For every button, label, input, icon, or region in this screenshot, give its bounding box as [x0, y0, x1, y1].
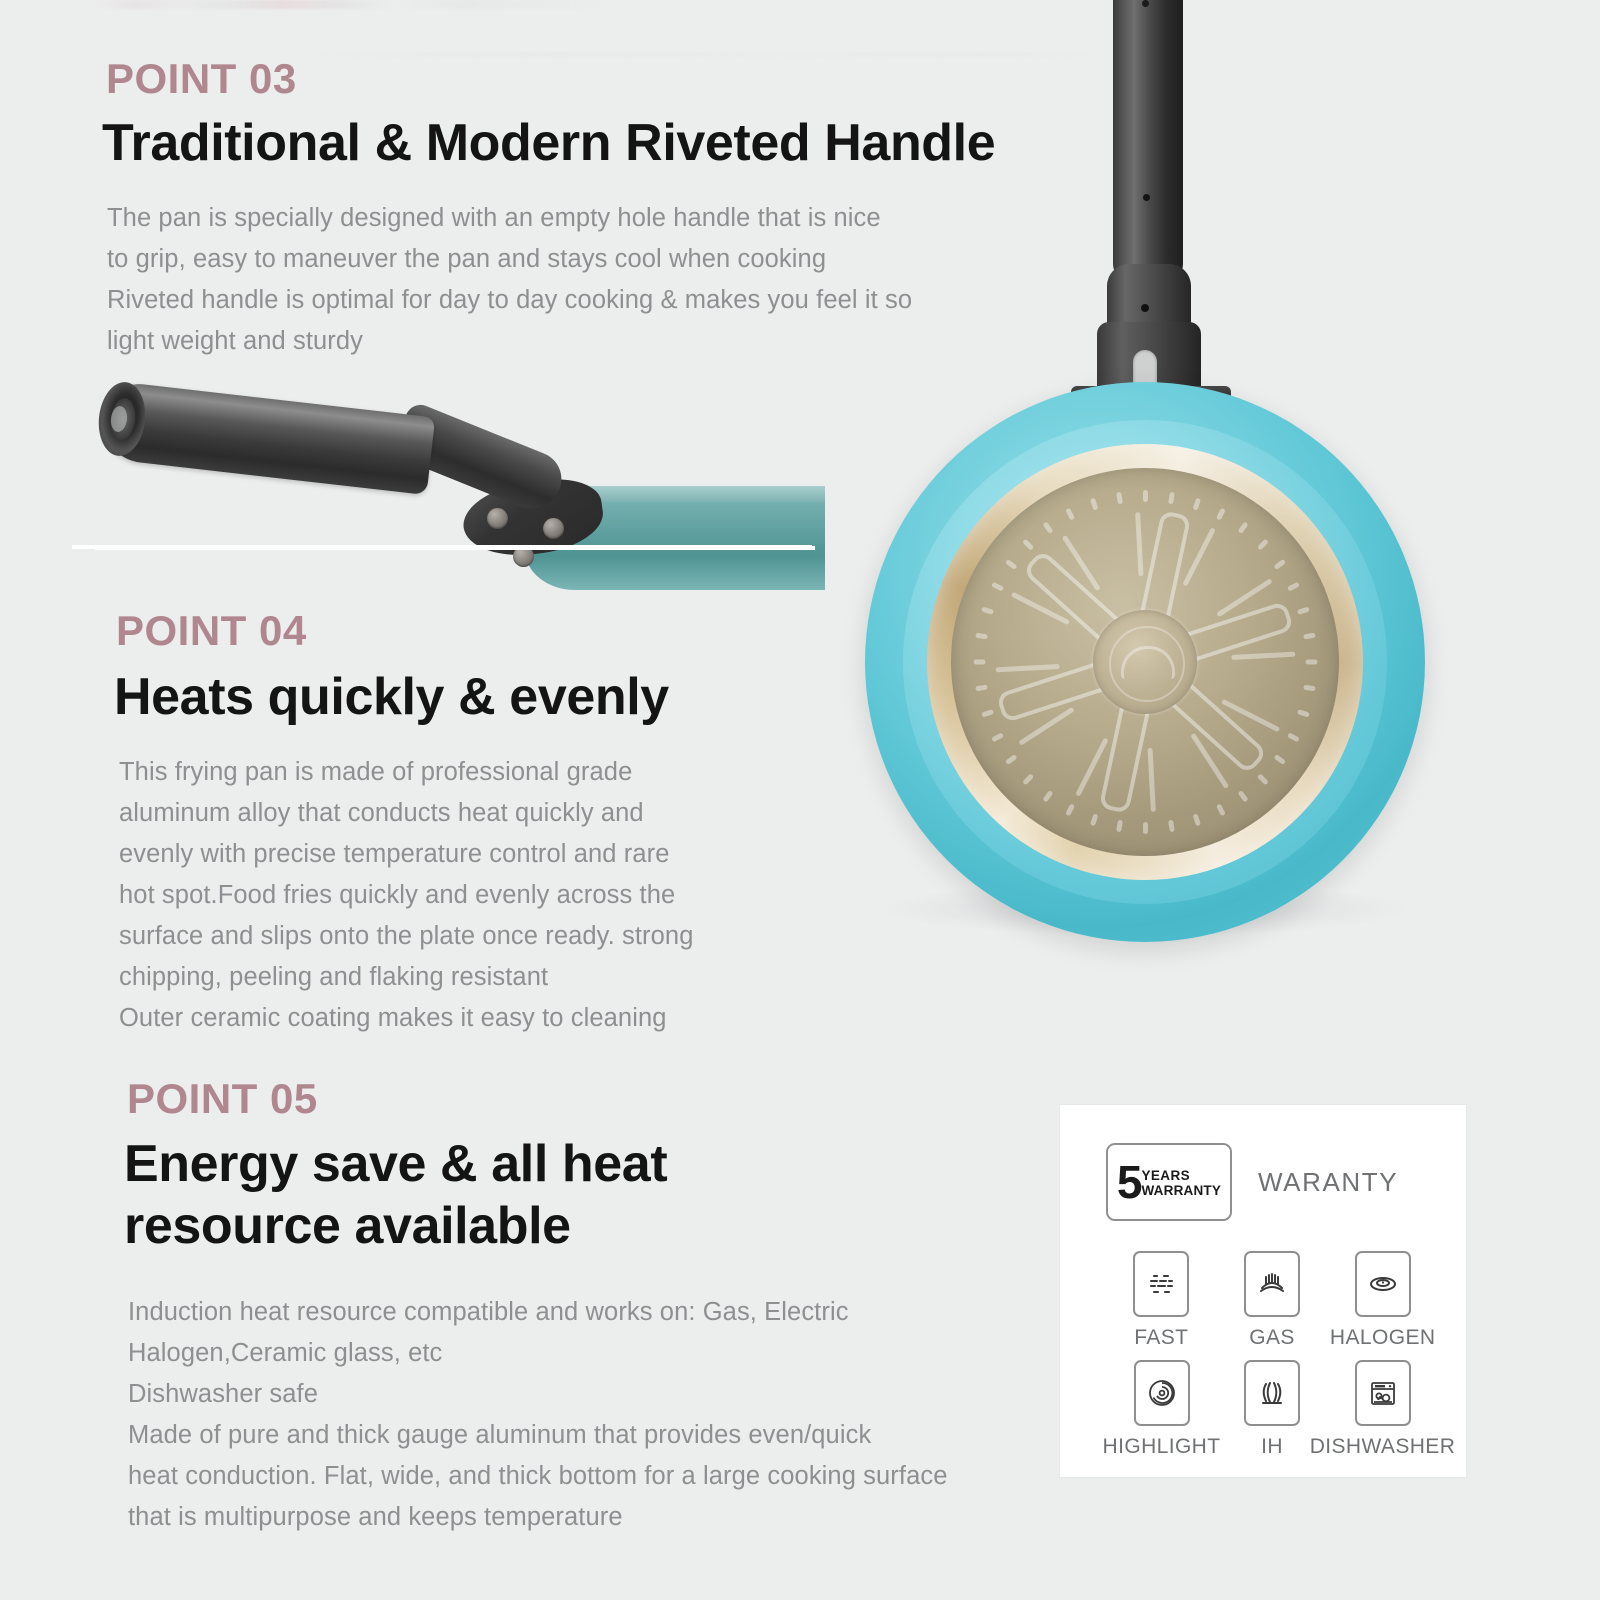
base-tick: [1303, 685, 1316, 692]
brand-medallion: [1093, 610, 1197, 714]
base-tick: [1273, 559, 1286, 570]
spec-icon-panel: 5 YEARS WARRANTY WARANTY: [1060, 1105, 1466, 1477]
base-tick: [1004, 559, 1017, 570]
base-tick: [1022, 773, 1034, 785]
ih-caption: IH: [1261, 1435, 1283, 1459]
warranty-row: 5 YEARS WARRANTY WARANTY: [1106, 1143, 1398, 1221]
highlight-icon: [1134, 1360, 1190, 1426]
point-05-body: Induction heat resource compatible and w…: [128, 1292, 1118, 1538]
base-tick: [1215, 803, 1225, 816]
dishwasher-icon: [1355, 1360, 1411, 1426]
base-tick: [1296, 606, 1309, 614]
base-tick: [1286, 582, 1299, 592]
point-04-title: Heats quickly & evenly: [114, 666, 669, 728]
base-tick: [1089, 813, 1097, 826]
warranty-badge: 5 YEARS WARRANTY: [1106, 1143, 1232, 1221]
base-tick: [1116, 492, 1123, 505]
point-05-title: Energy save & all heat resource availabl…: [124, 1133, 667, 1257]
base-tick: [1273, 754, 1286, 765]
base-tick: [1256, 773, 1268, 785]
handle-grip: [99, 380, 436, 495]
base-tick: [981, 709, 994, 717]
warranty-label: WARANTY: [1258, 1167, 1398, 1198]
point-04-body: This frying pan is made of professional …: [119, 752, 819, 1039]
icon-row-top: FAST: [1106, 1251, 1438, 1350]
dishwasher-caption: DISHWASHER: [1310, 1435, 1456, 1459]
base-tick: [1042, 521, 1053, 534]
warranty-years-number: 5: [1117, 1163, 1141, 1201]
base-tick: [1192, 813, 1200, 826]
base-tick: [1143, 490, 1148, 502]
gas-icon: [1244, 1251, 1300, 1317]
halogen-caption: HALOGEN: [1330, 1326, 1436, 1350]
spec-item-fast: FAST: [1106, 1251, 1217, 1350]
fast-caption: FAST: [1134, 1326, 1188, 1350]
rivet-icon: [543, 518, 564, 539]
base-tick: [1237, 790, 1248, 803]
compatibility-icon-grid: FAST: [1106, 1251, 1438, 1469]
fast-icon: [1133, 1251, 1189, 1317]
handle-screw-dot: [1143, 194, 1150, 201]
section-divider-1: [72, 545, 812, 549]
spec-item-gas: GAS: [1217, 1251, 1328, 1350]
base-tick: [975, 633, 988, 640]
point-05-label: POINT 05: [127, 1075, 318, 1123]
rivet-icon: [487, 508, 508, 529]
base-tick: [1022, 539, 1034, 551]
base-tick: [1215, 508, 1225, 521]
base-dash: [1231, 652, 1295, 660]
highlight-caption: HIGHLIGHT: [1103, 1435, 1221, 1459]
base-tick: [1116, 820, 1123, 833]
pan-handle-shaft: [1113, 0, 1183, 282]
base-tick: [991, 732, 1004, 742]
base-tick: [1168, 492, 1175, 505]
gas-caption: GAS: [1249, 1326, 1295, 1350]
base-tick: [1004, 754, 1017, 765]
product-feature-page: POINT 03 Traditional & Modern Riveted Ha…: [0, 0, 1600, 1600]
ih-icon: [1244, 1360, 1300, 1426]
handle-closeup-photo: [95, 360, 815, 550]
base-tick: [1286, 732, 1299, 742]
base-dash: [1147, 748, 1155, 812]
base-dash: [995, 664, 1059, 672]
handle-screw-dot: [1141, 304, 1149, 312]
warranty-years-word: YEARS: [1141, 1168, 1221, 1183]
base-dash: [1135, 512, 1143, 576]
base-tick: [981, 606, 994, 614]
base-tick: [1305, 660, 1317, 665]
point-03-label: POINT 03: [106, 55, 297, 103]
base-tick: [1065, 508, 1075, 521]
base-tick: [1065, 803, 1075, 816]
base-tick: [1042, 790, 1053, 803]
base-tick: [1143, 822, 1148, 834]
halogen-icon: [1355, 1251, 1411, 1317]
induction-base-disc: [951, 468, 1339, 856]
base-tick: [1237, 521, 1248, 534]
point-04-label: POINT 04: [116, 607, 307, 655]
base-tick: [1296, 709, 1309, 717]
spec-item-highlight: HIGHLIGHT: [1106, 1360, 1217, 1459]
icon-row-bottom: HIGHLIGHT: [1106, 1360, 1438, 1459]
cropped-heading-sliver: [95, 0, 615, 9]
spec-item-dishwasher: DISHWASHER: [1327, 1360, 1438, 1459]
base-tick: [1168, 820, 1175, 833]
base-tick: [973, 660, 985, 665]
base-tick: [1089, 498, 1097, 511]
handle-screw-dot: [1142, 0, 1149, 7]
base-tick: [1256, 539, 1268, 551]
base-tick: [975, 685, 988, 692]
warranty-word: WARRANTY: [1141, 1183, 1221, 1198]
frying-pan-bottom-photo: [845, 0, 1445, 1042]
spec-item-halogen: HALOGEN: [1327, 1251, 1438, 1350]
base-tick: [1303, 633, 1316, 640]
base-tick: [1192, 498, 1200, 511]
base-tick: [991, 582, 1004, 592]
